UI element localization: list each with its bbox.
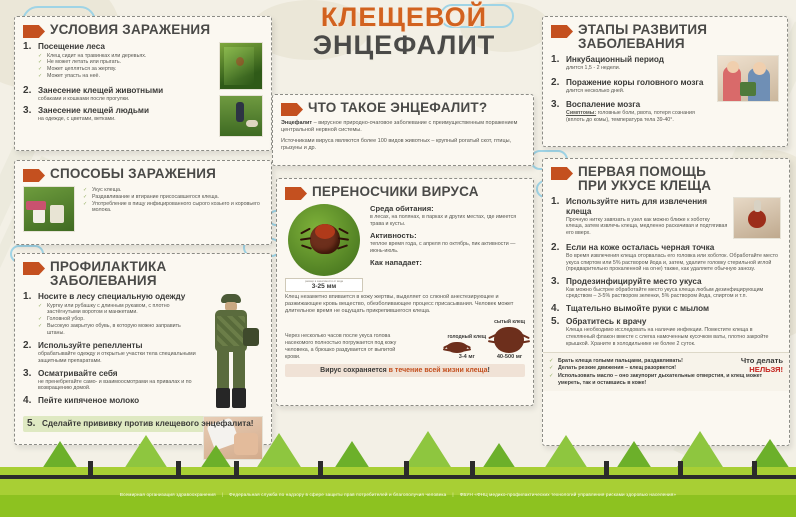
fence-post [88, 461, 93, 479]
fence-post [318, 461, 323, 479]
list-item: Может упасть на неё. [38, 73, 214, 80]
list-item: Головной убор. [38, 316, 199, 323]
card-header: ЭТАПЫ РАЗВИТИЯ ЗАБОЛЕВАНИЯ [551, 23, 779, 51]
footer-separator: | [446, 492, 459, 497]
list-item: Сделайте прививку против клещевого энцеф… [27, 419, 259, 429]
symptoms-line: Симптомы: головные боли, рвота, потеря с… [566, 110, 711, 123]
banner-post-text: ! [488, 367, 490, 374]
footer-org-2: Федеральная служба по надзору в сфере за… [229, 492, 446, 497]
photo-children [717, 55, 779, 102]
flag-arrow-icon [281, 103, 303, 116]
tick-shield [315, 224, 335, 239]
card-header: ПРОФИЛАКТИКА ЗАБОЛЕВАНИЯ [23, 260, 263, 288]
list-item: Употребление в пищу инфицированного сыро… [83, 201, 263, 215]
sub-bullets: Клещ сидит на травинках или деревьях. Не… [38, 53, 214, 80]
card-title-line1: ЭТАПЫ РАЗВИТИЯ [578, 22, 707, 37]
flag-arrow-icon [23, 262, 45, 275]
card-title-line1: ПЕРВАЯ ПОМОЩЬ [578, 164, 706, 179]
card-title-line2: ЗАБОЛЕВАНИЯ [578, 37, 707, 51]
list-item: Поражение коры головного мозга длится не… [551, 78, 711, 95]
conditions-list: Посещение леса Клещ сидит на травинках и… [23, 42, 214, 123]
tick-full-weight: 40-500 мг [494, 354, 525, 360]
photo-man-in-protective-clothing [203, 292, 261, 414]
list-item: Воспаление мозга Симптомы: головные боли… [551, 100, 711, 123]
warning-list: Брать клеща голыми пальцами, раздавливат… [549, 358, 783, 387]
card-title: ПРОФИЛАКТИКА ЗАБОЛЕВАНИЯ [50, 260, 166, 288]
tick-hungry-label: голодный клещ [447, 334, 486, 340]
photo-tick-on-leaf [219, 42, 263, 90]
flag-arrow-icon [23, 169, 45, 182]
card-header: ЧТО ТАКОЕ ЭНЦЕФАЛИТ? [281, 101, 525, 116]
list-item: Осматривайте себя не пренебрегайте само-… [23, 369, 199, 392]
list-item: Пейте кипяченое молоко [23, 396, 199, 406]
sources-paragraph: Источниками вируса являются более 100 ви… [281, 138, 525, 152]
sub-bullets: Куртку или рубашку с длинным рукавом, с … [38, 303, 199, 337]
activity-text: теплое время года, с апреля по октябрь, … [370, 241, 525, 254]
card-header: СПОСОБЫ ЗАРАЖЕНИЯ [23, 167, 263, 182]
ways-bullets: Укус клеща. Раздавливание и втирание при… [83, 187, 263, 214]
flag-arrow-icon [551, 25, 573, 38]
tick-leg-icon [338, 228, 349, 235]
activity-title: Активность: [370, 231, 525, 240]
tick-photo-block: размер в зависимости от вида 3-25 мм [285, 204, 363, 292]
card-prophylaxis: ПРОФИЛАКТИКА ЗАБОЛЕВАНИЯ Носите в лесу с… [14, 253, 272, 445]
card-header: ПЕРЕНОСЧИКИ ВИРУСА [285, 185, 525, 200]
warning-box: Что делать НЕЛЬЗЯ! Брать клеща голыми па… [543, 352, 789, 391]
habitat-title: Среда обитания: [370, 204, 525, 213]
definition-paragraph: Энцефалит – вирусное природно-очаговое з… [281, 120, 525, 134]
list-item: Раздавливание и втирание присосавшегося … [83, 194, 263, 201]
card-virus-carriers: ПЕРЕНОСЧИКИ ВИРУСА размер в зависимости … [276, 178, 534, 406]
card-first-aid: ПЕРВАЯ ПОМОЩЬ ПРИ УКУСЕ КЛЕЩА Используйт… [542, 158, 790, 446]
stages-list: Инкубационный период длится 1,5 - 2 неде… [551, 55, 711, 123]
banner-pre-text: Вирус сохраняется [320, 367, 389, 374]
flag-arrow-icon [551, 167, 573, 180]
tick-hungry: голодный клещ 3-4 мг [447, 334, 486, 360]
tick-size-comparison: голодный клещ 3-4 мг сытый клещ [413, 319, 525, 360]
tick-full-label: сытый клещ [494, 319, 525, 325]
list-item: Используйте репелленты обрабатывайте оде… [23, 341, 199, 364]
card-title: ЧТО ТАКОЕ ЭНЦЕФАЛИТ? [308, 101, 487, 115]
first-aid-list: Используйте нить для извлечения клеща Пр… [551, 197, 781, 347]
fence-post [678, 461, 683, 479]
card-title-line2: ПРИ УКУСЕ КЛЕЩА [578, 179, 711, 193]
vaccination-title: Сделайте прививку [42, 419, 122, 428]
definition-lead-word: Энцефалит [281, 120, 312, 126]
tick-size-value: 3-25 мм [289, 283, 359, 290]
card-disease-stages: ЭТАПЫ РАЗВИТИЯ ЗАБОЛЕВАНИЯ Инкубационный… [542, 16, 788, 147]
card-title: УСЛОВИЯ ЗАРАЖЕНИЯ [50, 23, 210, 37]
list-item: Делать резкие движения – клещ разорвется… [549, 365, 783, 372]
card-transmission-ways: СПОСОБЫ ЗАРАЖЕНИЯ Укус клеща. Раздавлива… [14, 160, 272, 245]
list-item: Высокую закрытую обувь, в которую можно … [38, 323, 199, 337]
list-item: Инкубационный период длится 1,5 - 2 неде… [551, 55, 711, 72]
card-title: СПОСОБЫ ЗАРАЖЕНИЯ [50, 167, 216, 181]
card-title: ПЕРВАЯ ПОМОЩЬ ПРИ УКУСЕ КЛЕЩА [578, 165, 711, 193]
fence-post [752, 461, 757, 479]
list-item: Занесение клещей людьми на одежде, с цве… [23, 106, 214, 123]
tick-leg-icon [300, 228, 311, 235]
poster-title-line1: КЛЕЩЕВОЙ [276, 4, 532, 31]
fence-post [404, 461, 409, 479]
flag-arrow-icon [285, 187, 307, 200]
footer-separator: | [216, 492, 229, 497]
footer-organizations: Всемирная организация здравоохранения|Фе… [0, 492, 796, 497]
list-item: Брать клеща голыми пальцами, раздавливат… [549, 358, 783, 365]
photo-dog-walker [219, 95, 263, 137]
list-item: Использовать масло – оно закупорит дыхат… [549, 373, 783, 387]
tick-full-icon [494, 327, 525, 353]
attack-title: Как нападает: [370, 258, 525, 267]
list-item: Обратитесь к врачу Клеща необходимо иссл… [551, 317, 781, 347]
tick-body [494, 327, 524, 353]
photo-milk-picnic [23, 186, 75, 232]
tick-hungry-icon [447, 342, 486, 353]
tick-size-label: размер в зависимости от вида 3-25 мм [285, 278, 363, 292]
photo-thread-removal [733, 197, 781, 239]
symptoms-label: Симптомы: [566, 110, 596, 116]
footer-org-1: Всемирная организация здравоохранения [120, 492, 216, 497]
fence-post [470, 461, 475, 479]
card-infection-conditions: УСЛОВИЯ ЗАРАЖЕНИЯ Посещение леса Клещ си… [14, 16, 272, 151]
list-item: Посещение леса Клещ сидит на травинках и… [23, 42, 214, 80]
flag-arrow-icon [23, 25, 45, 38]
virus-lifetime-banner: Вирус сохраняется в течение всей жизни к… [285, 364, 525, 377]
fence-post [604, 461, 609, 479]
card-header: ПЕРВАЯ ПОМОЩЬ ПРИ УКУСЕ КЛЕЩА [551, 165, 781, 193]
card-what-is-encephalitis: ЧТО ТАКОЕ ЭНЦЕФАЛИТ? Энцефалит – вирусно… [272, 94, 534, 166]
tick-hungry-weight: 3-4 мг [447, 354, 486, 360]
banner-highlight-text: в течение всей жизни клеща [389, 367, 488, 374]
list-item: Носите в лесу специальную одежду Куртку … [23, 292, 199, 336]
vaccination-title-tail: против клещевого энцефалита! [124, 419, 253, 428]
fence-post [176, 461, 181, 479]
tick-full: сытый клещ 40-500 мг [494, 319, 525, 360]
list-item: Если на коже осталась черная точка Во вр… [551, 243, 781, 273]
footer-org-3: ФБУН «ФНЦ медико-профилактических технол… [460, 492, 676, 497]
list-item: Может цепляться за жертву. [38, 66, 214, 73]
list-item: Используйте нить для извлечения клеща Пр… [551, 197, 781, 239]
ground-line [0, 475, 796, 479]
card-title-line2: ЗАБОЛЕВАНИЯ [50, 274, 166, 288]
list-item: Тщательно вымойте руки с мылом [551, 304, 781, 314]
poster-title: КЛЕЩЕВОЙ ЭНЦЕФАЛИТ [276, 4, 532, 59]
card-title-line1: ПРОФИЛАКТИКА [50, 259, 166, 274]
habitat-text: в лесах, на полянах, в парках и других м… [370, 214, 525, 227]
list-item: Продезинфицируйте место укуса Как можно … [551, 277, 781, 300]
card-title: ПЕРЕНОСЧИКИ ВИРУСА [312, 185, 479, 199]
card-header: УСЛОВИЯ ЗАРАЖЕНИЯ [23, 23, 263, 38]
attack-paragraph-1: Клещ незаметно впивается в кожу жертвы, … [285, 294, 525, 315]
card-title: ЭТАПЫ РАЗВИТИЯ ЗАБОЛЕВАНИЯ [578, 23, 707, 51]
attack-paragraph-2: Через несколько часов после укуса голова… [285, 333, 407, 360]
list-item: Куртку или рубашку с длинным рукавом, с … [38, 303, 199, 317]
list-item: Укус клеща. [83, 187, 263, 194]
fence-post [234, 461, 239, 479]
photo-tick-closeup [288, 204, 360, 276]
list-item: Не может летать или прыгать. [38, 59, 214, 66]
prophylaxis-list: Носите в лесу специальную одежду Куртку … [23, 292, 199, 405]
poster-title-line2: ЭНЦЕФАЛИТ [276, 31, 532, 59]
list-item: Клещ сидит на травинках или деревьях. [38, 53, 214, 60]
definition-text: – вирусное природно-очаговое заболевание… [281, 120, 517, 133]
list-item: Занесение клещей животными собаками и ко… [23, 86, 214, 103]
